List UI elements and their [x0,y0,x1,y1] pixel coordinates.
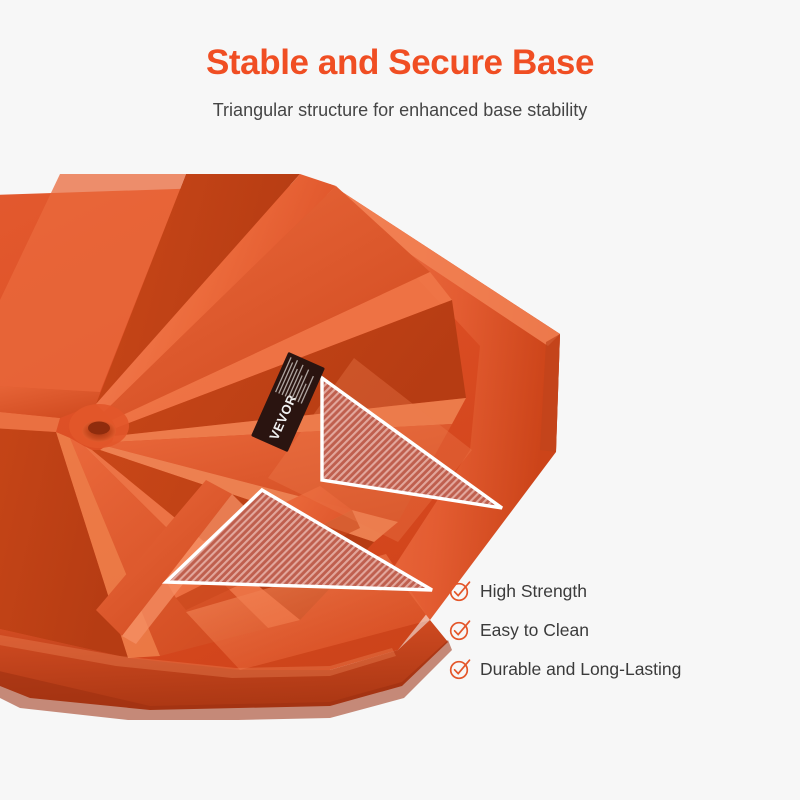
center-hub [69,404,129,448]
list-item: Durable and Long-Lasting [449,650,789,689]
product-feature-banner: Stable and Secure Base Triangular struct… [0,0,800,800]
feature-label: High Strength [480,583,587,601]
circled-check-icon [449,659,470,680]
page-title: Stable and Secure Base [0,44,800,83]
circled-check-icon [449,581,470,602]
list-item: High Strength [449,572,789,611]
feature-label: Easy to Clean [480,622,589,640]
circled-check-icon [449,620,470,641]
feature-label: Durable and Long-Lasting [480,661,681,679]
feature-list: High Strength Easy to Clean Durable and … [449,572,789,689]
page-subtitle: Triangular structure for enhanced base s… [0,99,800,122]
list-item: Easy to Clean [449,611,789,650]
